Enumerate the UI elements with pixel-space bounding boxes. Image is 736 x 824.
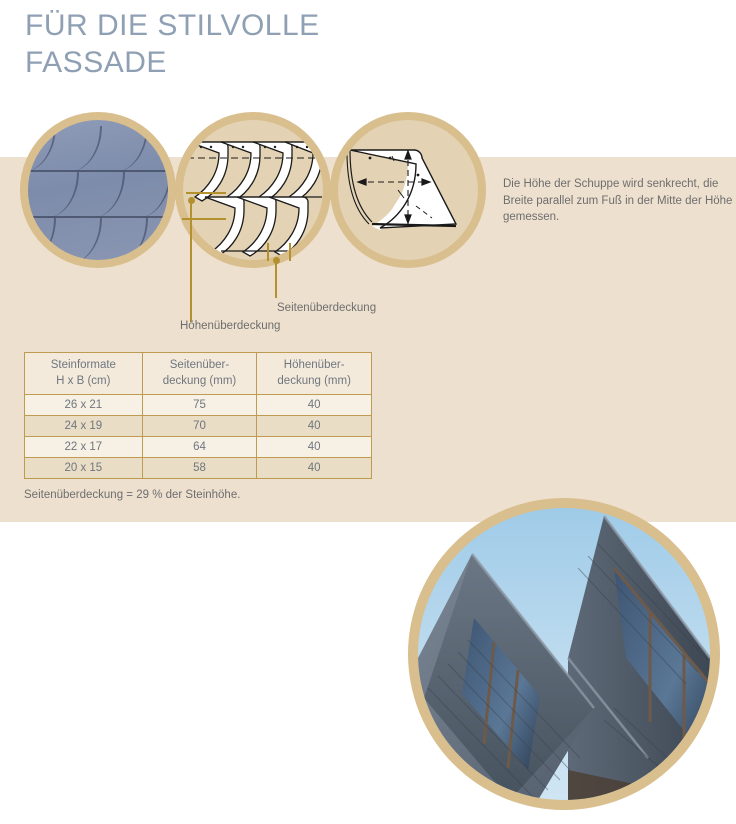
cell-height-overlap: 40 — [257, 437, 372, 458]
callout-label-hoehenueberdeckung: Höhenüberdeckung — [180, 320, 280, 332]
page-title-line-2: FASSADE — [25, 45, 525, 82]
cell-height-overlap: 40 — [257, 416, 372, 437]
cell-format: 22 x 17 — [25, 437, 143, 458]
table-row: 22 x 17 64 40 — [25, 437, 372, 458]
callout-leader-hoehen-top — [186, 192, 226, 194]
cell-side-overlap: 70 — [142, 416, 257, 437]
callout-leader-hoehen-bottom — [182, 218, 226, 220]
table-header-hoehenueberdeckung: Höhenüber- deckung (mm) — [257, 353, 372, 395]
cell-side-overlap: 64 — [142, 437, 257, 458]
overlapping-scales-technical-drawing — [183, 120, 323, 260]
cell-side-overlap: 75 — [142, 395, 257, 416]
table-header-row: Steinformate H x B (cm) Seitenüber- deck… — [25, 353, 372, 395]
cell-format: 24 x 19 — [25, 416, 143, 437]
table-row: 24 x 19 70 40 — [25, 416, 372, 437]
table-caption: Seitenüberdeckung = 29 % der Steinhöhe. — [24, 489, 240, 501]
single-scale-svg — [338, 120, 478, 260]
callout-line-hoehen — [190, 200, 192, 322]
callout-tick-seiten-left — [267, 243, 269, 261]
table-header-seitenueberdeckung: Seitenüber- deckung (mm) — [142, 353, 257, 395]
slate-dormer-roof-photo — [418, 508, 710, 800]
cell-side-overlap: 58 — [142, 458, 257, 479]
callout-tick-seiten-right — [289, 243, 291, 261]
overlapping-scales-svg — [183, 120, 323, 260]
cell-format: 20 x 15 — [25, 458, 143, 479]
measurement-note-text: Die Höhe der Schuppe wird senkrecht, die… — [503, 176, 735, 226]
single-scale-measurement-drawing — [338, 120, 478, 260]
callout-label-seitenueberdeckung: Seitenüberdeckung — [277, 302, 376, 314]
table-row: 26 x 21 75 40 — [25, 395, 372, 416]
table-row: 20 x 15 58 40 — [25, 458, 372, 479]
table-header-steinformate: Steinformate H x B (cm) — [25, 353, 143, 395]
stone-formats-table: Steinformate H x B (cm) Seitenüber- deck… — [24, 352, 372, 479]
cell-height-overlap: 40 — [257, 395, 372, 416]
callout-line-seiten — [275, 260, 277, 298]
page-title: FÜR DIE STILVOLLE FASSADE — [25, 8, 525, 81]
slate-scale-facade-photo — [28, 120, 168, 260]
roof-illustration — [418, 508, 710, 800]
page-title-line-1: FÜR DIE STILVOLLE — [25, 9, 320, 42]
cell-format: 26 x 21 — [25, 395, 143, 416]
cell-height-overlap: 40 — [257, 458, 372, 479]
slate-texture — [28, 120, 168, 260]
